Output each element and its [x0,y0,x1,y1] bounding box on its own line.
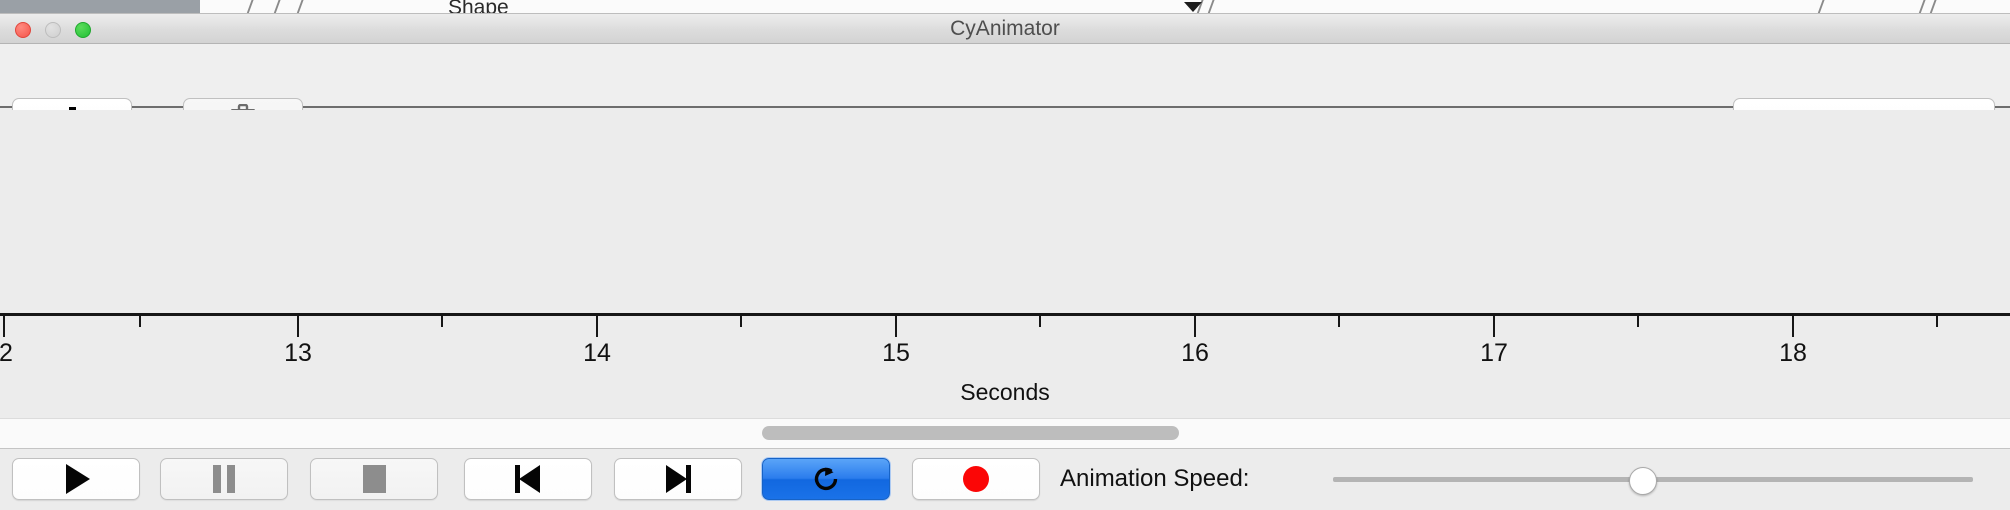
skip-to-end-icon [665,465,691,493]
horizontal-scrollbar[interactable] [0,418,2010,448]
ruler-tick-minor [139,316,141,327]
ruler-tick-minor [441,316,443,327]
ruler-tick-major [895,316,897,337]
skip-to-start-button[interactable] [464,458,592,500]
ruler-label: 2 [0,339,13,368]
skip-to-start-icon [515,465,541,493]
stop-button[interactable] [310,458,438,500]
playback-controls: Animation Speed: [0,448,2010,510]
loop-button[interactable] [762,458,890,500]
ruler-label: 15 [882,339,910,368]
ruler-tick-major [3,316,5,337]
ruler-tick-minor [1039,316,1041,327]
timeline-ruler[interactable]: 2 13 14 15 16 17 18 Seconds [0,313,2010,423]
ruler-baseline [0,313,2010,316]
timeline-track[interactable]: MCM1 [0,110,2010,313]
ruler-tick-major [1493,316,1495,337]
scrollbar-thumb[interactable] [762,426,1179,440]
window-title: CyAnimator [0,14,2010,44]
ruler-label: 14 [583,339,611,368]
cyanimator-window: Shape CyAnimator Clear All Frames [0,0,2010,510]
record-button[interactable] [912,458,1040,500]
ruler-label: 16 [1181,339,1209,368]
background-windows-strip: Shape [0,0,2010,14]
ruler-tick-minor [1338,316,1340,327]
ruler-tick-major [1194,316,1196,337]
pause-icon [213,465,235,493]
axis-title: Seconds [0,379,2010,406]
play-icon [66,464,90,494]
skip-to-end-button[interactable] [614,458,742,500]
slider-thumb[interactable] [1629,467,1657,495]
ruler-tick-minor [1637,316,1639,327]
ruler-tick-major [1792,316,1794,337]
play-button[interactable] [12,458,140,500]
ruler-label: 18 [1779,339,1807,368]
loop-icon [811,464,841,494]
ruler-tick-minor [1936,316,1938,327]
ruler-tick-minor [740,316,742,327]
animation-speed-label: Animation Speed: [1060,458,1249,500]
title-bar: CyAnimator [0,14,2010,44]
animation-speed-slider[interactable] [1333,458,1973,500]
toolbar: Clear All Frames [0,44,2010,108]
background-window-label: Shape [448,0,509,14]
pause-button[interactable] [160,458,288,500]
ruler-label: 13 [284,339,312,368]
ruler-tick-major [596,316,598,337]
ruler-label: 17 [1480,339,1508,368]
record-icon [963,466,989,492]
ruler-tick-major [297,316,299,337]
stop-icon [363,465,386,493]
